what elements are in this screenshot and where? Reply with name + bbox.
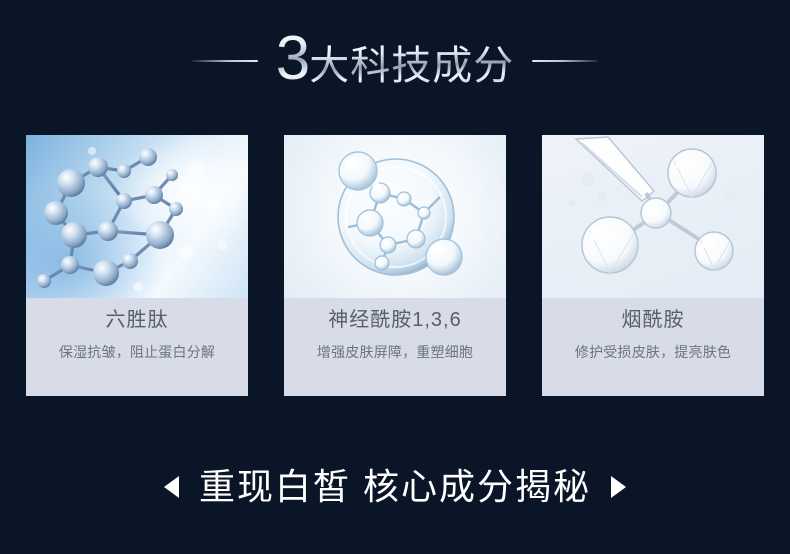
promo-page: { "page": { "background_color": "#0b1528… — [0, 0, 790, 554]
ingredient-title: 六胜肽 — [106, 307, 169, 333]
ingredient-card[interactable]: 烟酰胺 修护受损皮肤，提亮肤色 — [542, 135, 764, 396]
ingredient-title: 烟酰胺 — [622, 307, 685, 333]
page-title-text: 大科技成分 — [309, 44, 514, 88]
page-header: 3 大科技成分 — [0, 0, 790, 118]
page-title-number: 3 — [276, 28, 309, 90]
arrow-right-icon — [611, 476, 626, 498]
dropper-molecule-illustration-icon — [542, 135, 764, 298]
ingredient-card[interactable]: 神经酰胺1,3,6 增强皮肤屏障，重塑细胞 — [284, 135, 506, 396]
ingredient-card[interactable]: 六胜肽 保湿抗皱，阻止蛋白分解 — [26, 135, 248, 396]
arrow-left-icon — [164, 476, 179, 498]
footer-headline: 重现白皙 核心成分揭秘 — [199, 465, 591, 509]
ingredient-caption: 神经酰胺1,3,6 增强皮肤屏障，重塑细胞 — [284, 298, 506, 396]
ingredient-image-blue-molecule-structure — [26, 135, 248, 298]
ingredient-title: 神经酰胺1,3,6 — [328, 307, 461, 333]
ingredient-subtitle: 保湿抗皱，阻止蛋白分解 — [59, 342, 215, 362]
ingredient-card-list: 六胜肽 保湿抗皱，阻止蛋白分解 — [26, 135, 764, 396]
ingredient-caption: 烟酰胺 修护受损皮肤，提亮肤色 — [542, 298, 764, 396]
ingredient-subtitle: 修护受损皮肤，提亮肤色 — [575, 342, 731, 362]
ingredient-caption: 六胜肽 保湿抗皱，阻止蛋白分解 — [26, 298, 248, 396]
footer-banner: 重现白皙 核心成分揭秘 — [0, 444, 790, 530]
bubble-molecule-illustration-icon — [284, 135, 506, 298]
molecule-illustration-icon — [26, 135, 248, 298]
ingredient-image-dropper-crystal-molecule — [542, 135, 764, 298]
page-title: 3 大科技成分 — [258, 28, 532, 90]
decorative-rule-left-icon — [192, 60, 258, 62]
ingredient-subtitle: 增强皮肤屏障，重塑细胞 — [317, 342, 473, 362]
decorative-rule-right-icon — [532, 60, 598, 62]
ingredient-image-water-bubble-molecule — [284, 135, 506, 298]
